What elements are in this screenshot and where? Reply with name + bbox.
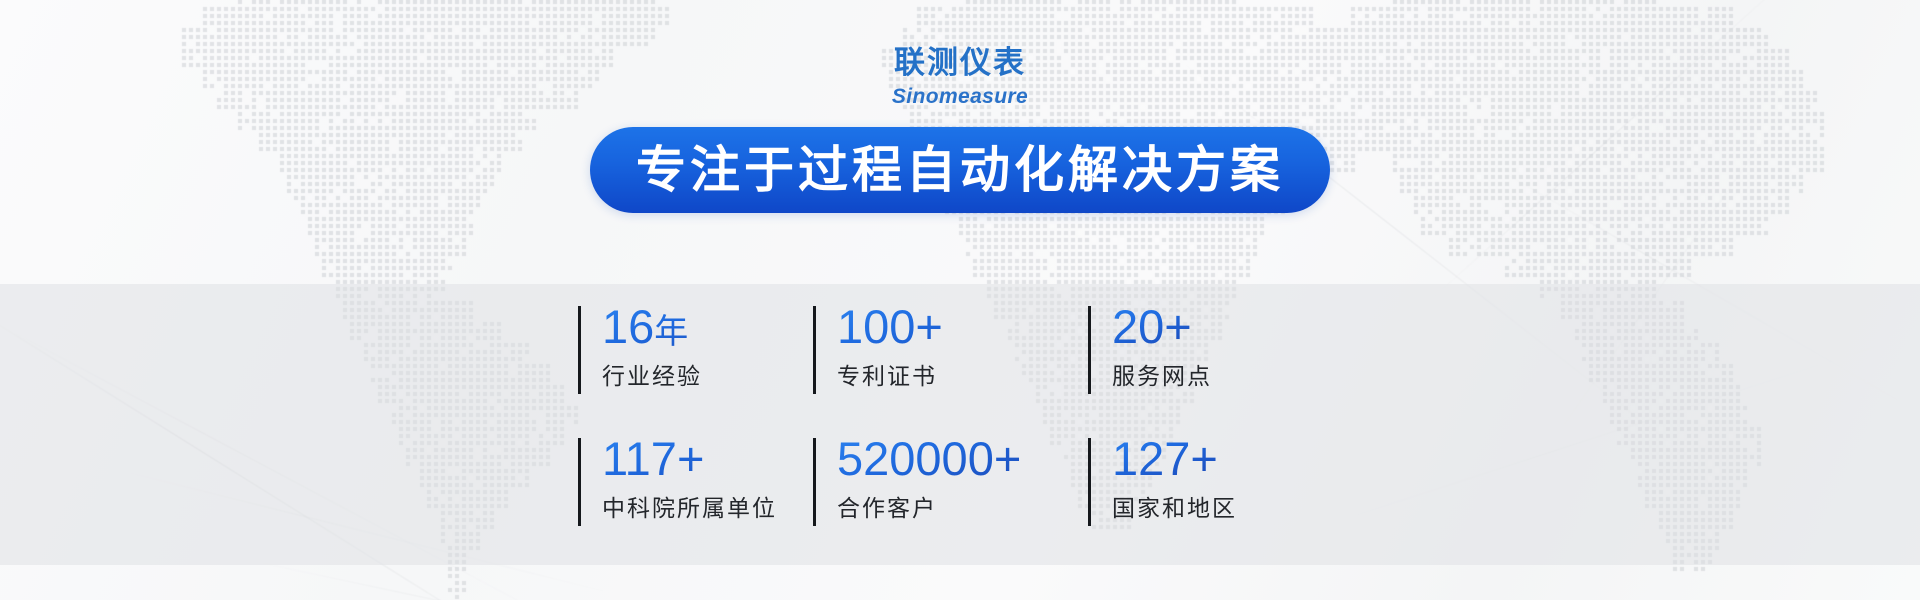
stat-label: 中科院所属单位 bbox=[602, 489, 813, 523]
stat-value: 520000+ bbox=[837, 434, 1088, 483]
stat-divider-bar bbox=[813, 306, 816, 394]
stat-item-countries: 127+ 国家和地区 bbox=[1088, 434, 1237, 564]
stats-grid: 16年 行业经验 100+ 专利证书 20+ 服务网点 117+ bbox=[578, 302, 1348, 564]
stat-item-service-points: 20+ 服务网点 bbox=[1088, 302, 1212, 434]
stat-value: 127+ bbox=[1112, 434, 1237, 483]
stat-value: 16年 bbox=[602, 302, 813, 351]
stat-label: 专利证书 bbox=[837, 357, 1088, 391]
stat-divider-bar bbox=[1088, 438, 1091, 526]
stat-item-customers: 520000+ 合作客户 bbox=[813, 434, 1088, 564]
stat-divider-bar bbox=[1088, 306, 1091, 394]
stats-row-1: 16年 行业经验 100+ 专利证书 20+ 服务网点 bbox=[578, 302, 1348, 434]
headline-pill: 专注于过程自动化解决方案 bbox=[590, 127, 1330, 213]
brand-logo: 联测仪表 Sinomeasure bbox=[0, 48, 1920, 107]
stat-value: 100+ bbox=[837, 302, 1088, 351]
stat-divider-bar bbox=[578, 306, 581, 394]
stat-item-experience: 16年 行业经验 bbox=[578, 302, 813, 434]
stat-label: 国家和地区 bbox=[1112, 489, 1237, 523]
stats-row-2: 117+ 中科院所属单位 520000+ 合作客户 127+ 国家和地区 bbox=[578, 434, 1348, 564]
stat-value: 117+ bbox=[602, 434, 813, 483]
stat-label: 服务网点 bbox=[1112, 357, 1212, 391]
stat-item-patents: 100+ 专利证书 bbox=[813, 302, 1088, 434]
headline-container: 专注于过程自动化解决方案 bbox=[0, 127, 1920, 213]
stat-label: 合作客户 bbox=[837, 489, 1088, 523]
brand-logo-cn: 联测仪表 bbox=[0, 48, 1920, 79]
stat-item-cas-units: 117+ 中科院所属单位 bbox=[578, 434, 813, 564]
stat-divider-bar bbox=[578, 438, 581, 526]
stat-divider-bar bbox=[813, 438, 816, 526]
brand-logo-en: Sinomeasure bbox=[0, 86, 1920, 107]
headline-text: 专注于过程自动化解决方案 bbox=[636, 145, 1284, 195]
stat-label: 行业经验 bbox=[602, 357, 813, 391]
promo-banner: 联测仪表 Sinomeasure 专注于过程自动化解决方案 16年 行业经验 1… bbox=[0, 0, 1920, 600]
stat-value: 20+ bbox=[1112, 302, 1212, 351]
